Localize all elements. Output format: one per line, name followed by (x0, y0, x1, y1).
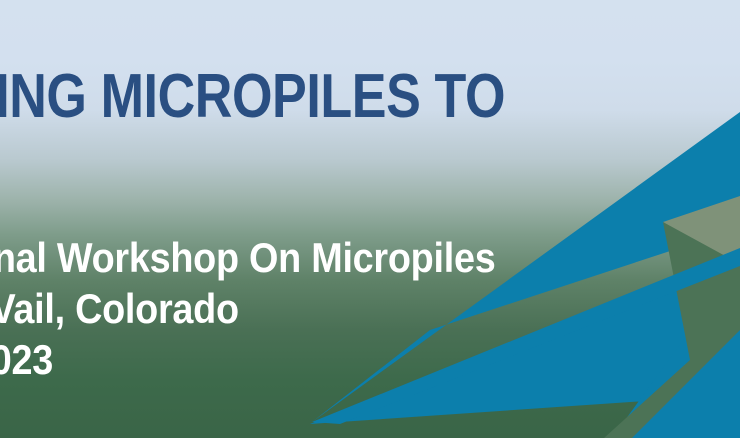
event-details: onal Workshop On Micropiles | Vail, Colo… (0, 232, 495, 386)
page-title: KING MICROPILES TO (0, 66, 647, 128)
event-year-line: 2023 (0, 334, 495, 385)
event-location-line: | Vail, Colorado (0, 283, 495, 334)
conference-banner: KING MICROPILES TO onal Workshop On Micr… (0, 0, 740, 438)
event-name-line: onal Workshop On Micropiles (0, 232, 495, 283)
